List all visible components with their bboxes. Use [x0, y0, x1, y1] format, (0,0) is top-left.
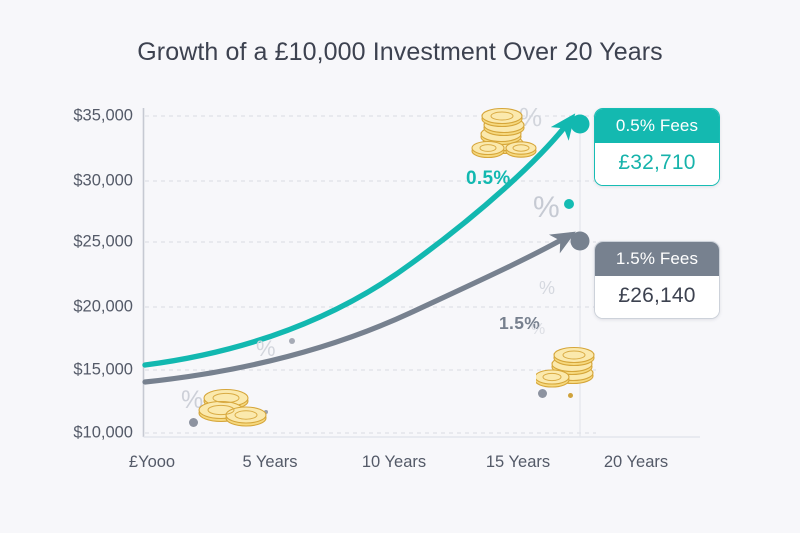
series-endpoint-low-fee	[571, 115, 590, 134]
coin-stack-icon	[471, 100, 537, 160]
y-tick-label: $30,000	[47, 172, 133, 191]
y-tick-label: $35,000	[47, 107, 133, 126]
y-tick-label: $25,000	[47, 233, 133, 252]
percent-glyph-icon: %	[539, 278, 555, 299]
series-endpoint-high-fee	[571, 232, 590, 251]
callout-value-low-fee: £32,710	[595, 143, 719, 185]
y-tick-label: $20,000	[47, 298, 133, 317]
callout-card-high-fee[interactable]: 1.5% Fees £26,140	[594, 241, 720, 319]
series-line-high-fee	[145, 235, 570, 382]
x-tick-label: 5 Years	[242, 453, 297, 472]
x-tick-label: 15 Years	[486, 453, 550, 472]
callout-header-high-fee: 1.5% Fees	[595, 242, 719, 276]
callout-header-low-fee: 0.5% Fees	[595, 109, 719, 143]
percent-glyph-icon: %	[533, 191, 560, 225]
x-tick-label: 20 Years	[604, 453, 668, 472]
percent-glyph-icon: %	[256, 336, 276, 362]
coin-stack-icon	[536, 334, 602, 392]
decorative-dot-teal	[564, 199, 574, 209]
coin-stack-icon	[196, 385, 268, 431]
decorative-dot-gold	[568, 393, 573, 398]
callout-value-high-fee: £26,140	[595, 276, 719, 318]
y-tick-label: $15,000	[47, 361, 133, 380]
y-tick-label: $10,000	[47, 424, 133, 443]
callout-card-low-fee[interactable]: 0.5% Fees £32,710	[594, 108, 720, 186]
chart-canvas: Growth of a £10,000 Investment Over 20 Y…	[0, 0, 800, 533]
decorative-dot	[289, 338, 295, 344]
y-axis-labels: $35,000 $30,000 $25,000 $20,000 $15,000 …	[37, 0, 133, 533]
x-tick-label: 10 Years	[362, 453, 426, 472]
series-label-low-fee: 0.5%	[466, 168, 511, 190]
x-tick-label: £Yooo	[129, 453, 175, 472]
